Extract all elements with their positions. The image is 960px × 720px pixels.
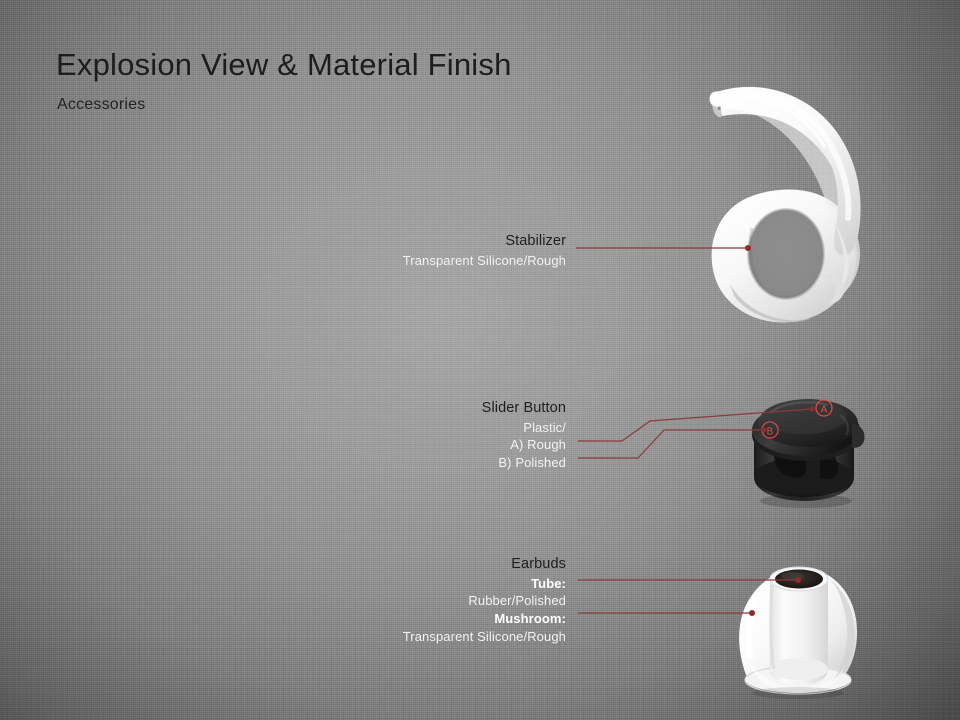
product-image-stabilizer-earhook bbox=[700, 78, 900, 328]
product-image-earbud-tip bbox=[718, 555, 878, 700]
callout-stabilizer: Stabilizer Transparent Silicone/Rough bbox=[403, 232, 566, 269]
callout-slider-line-1: A) Rough bbox=[482, 436, 566, 454]
callout-earbuds: Earbuds Tube: Rubber/Polished Mushroom: … bbox=[403, 555, 566, 645]
callout-slider-line-2: B) Polished bbox=[482, 454, 566, 472]
svg-text:B: B bbox=[767, 427, 774, 438]
callout-slider-button: Slider Button Plastic/ A) Rough B) Polis… bbox=[482, 399, 566, 472]
callout-stabilizer-heading: Stabilizer bbox=[403, 232, 566, 252]
callout-earbuds-heading: Earbuds bbox=[403, 555, 566, 575]
callout-earbuds-line-1: Rubber/Polished bbox=[403, 592, 566, 610]
callout-slider-heading: Slider Button bbox=[482, 399, 566, 419]
svg-text:A: A bbox=[821, 405, 828, 416]
page-title: Explosion View & Material Finish bbox=[56, 47, 512, 83]
callout-earbuds-line-0: Tube: bbox=[403, 575, 566, 593]
slide-canvas: Explosion View & Material Finish Accesso… bbox=[0, 0, 960, 720]
product-image-slider-button: A B bbox=[742, 385, 882, 510]
callout-earbuds-line-2: Mushroom: bbox=[403, 610, 566, 628]
callout-earbuds-line-3: Transparent Silicone/Rough bbox=[403, 628, 566, 646]
page-subtitle: Accessories bbox=[57, 96, 145, 114]
callout-stabilizer-line-0: Transparent Silicone/Rough bbox=[403, 252, 566, 270]
callout-slider-line-0: Plastic/ bbox=[482, 419, 566, 437]
